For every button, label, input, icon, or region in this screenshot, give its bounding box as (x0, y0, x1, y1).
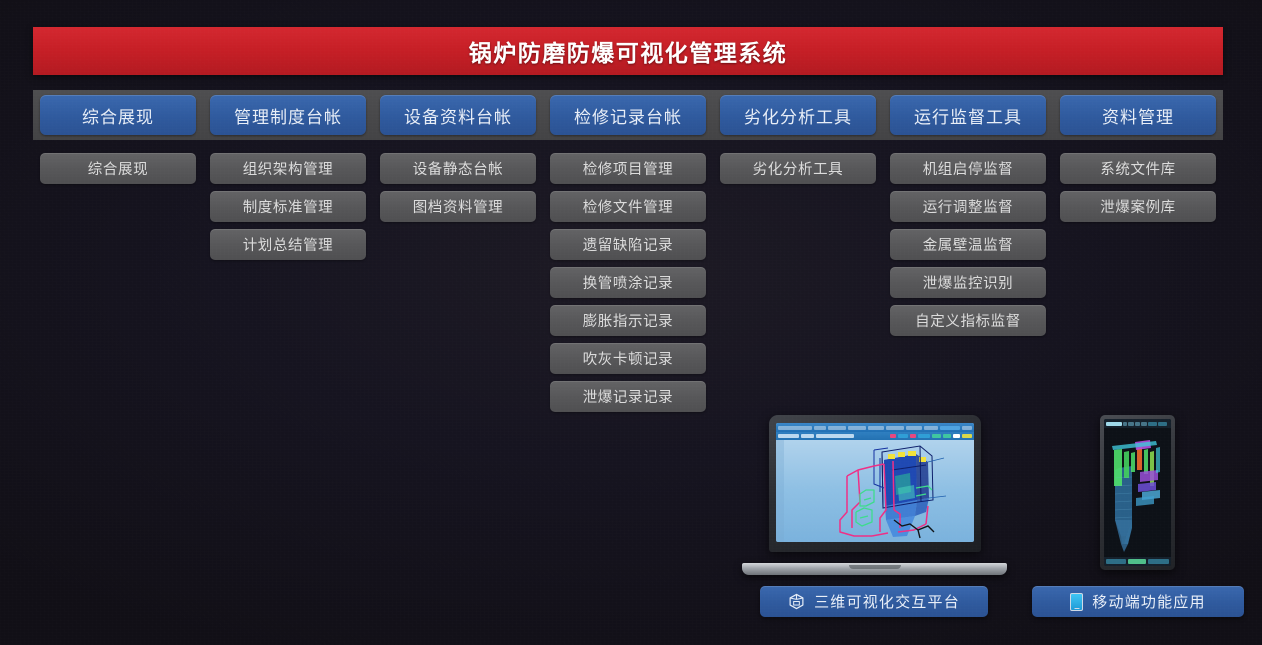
submenu-item-degradation-analysis-tool[interactable]: 劣化分析工具 (720, 153, 876, 184)
tab-management-system-ledger[interactable]: 管理制度台帐 (210, 95, 366, 135)
boiler-3d-model-mobile (1104, 428, 1171, 564)
submenu-item-legacy-defect-record[interactable]: 遗留缺陷记录 (550, 229, 706, 260)
submenu-column-maintenance-record-ledger: 检修项目管理 检修文件管理 遗留缺陷记录 换管喷涂记录 膨胀指示记录 吹灰卡顿记… (543, 153, 713, 412)
tablet-footer-dropdown (1106, 559, 1126, 564)
submenu-column-management-system-ledger: 组织架构管理 制度标准管理 计划总结管理 (203, 153, 373, 260)
tablet-toolbar-btn-2 (1158, 422, 1167, 426)
toolbar-dropdown-2 (801, 434, 814, 438)
titlebar-window-controls (962, 426, 972, 430)
titlebar-logo (778, 426, 812, 430)
mobile-application-button[interactable]: 移动端功能应用 (1032, 586, 1244, 617)
tab-cell-4: 劣化分析工具 (713, 95, 883, 135)
submenu-item-soot-blowing-jam-record[interactable]: 吹灰卡顿记录 (550, 343, 706, 374)
submenu-item-operation-adjustment-supervision[interactable]: 运行调整监督 (890, 191, 1046, 222)
tablet-toolbar-logo (1106, 422, 1122, 426)
tab-cell-2: 设备资料台帐 (373, 95, 543, 135)
tablet-toolbar-btn-1 (1148, 422, 1157, 426)
titlebar-menu-6 (906, 426, 922, 430)
toolbar-btn-5 (953, 434, 960, 438)
submenu-item-plan-summary-mgmt[interactable]: 计划总结管理 (210, 229, 366, 260)
titlebar-menu-5 (886, 426, 904, 430)
tablet-footer-btn-1 (1128, 559, 1147, 564)
submenu-column-comprehensive-display: 综合展现 (33, 153, 203, 184)
tablet-toolbar-icon-4 (1141, 422, 1147, 426)
tab-document-management[interactable]: 资料管理 (1060, 95, 1216, 135)
toolbar-swatch-pink-2 (910, 434, 916, 438)
submenu-item-tube-replacement-coating-record[interactable]: 换管喷涂记录 (550, 267, 706, 298)
titlebar-menu-2 (828, 426, 846, 430)
tablet-app-toolbar (1104, 419, 1171, 428)
tab-cell-5: 运行监督工具 (883, 95, 1053, 135)
application-window: 锅炉防磨防爆可视化管理系统 综合展现 管理制度台帐 设备资料台帐 检修记录台帐 … (0, 0, 1262, 645)
laptop-app-toolbar (776, 432, 974, 440)
submenu-column-document-management: 系统文件库 泄爆案例库 (1053, 153, 1223, 222)
submenu-grid: 综合展现 组织架构管理 制度标准管理 计划总结管理 设备静态台帐 图档资料管理 … (33, 153, 1223, 412)
3d-visualization-platform-button[interactable]: 三维可视化交互平台 (760, 586, 988, 617)
submenu-item-leak-burst-record[interactable]: 泄爆记录记录 (550, 381, 706, 412)
submenu-item-leak-burst-case-library[interactable]: 泄爆案例库 (1060, 191, 1216, 222)
submenu-item-maintenance-project-mgmt[interactable]: 检修项目管理 (550, 153, 706, 184)
submenu-item-org-structure-mgmt[interactable]: 组织架构管理 (210, 153, 366, 184)
mobile-phone-icon (1070, 593, 1083, 611)
tablet-bottom-bar (1104, 557, 1171, 566)
laptop-screen (776, 423, 974, 542)
tab-cell-6: 资料管理 (1053, 95, 1223, 135)
titlebar-menu-3 (848, 426, 866, 430)
submenu-item-equipment-static-ledger[interactable]: 设备静态台帐 (380, 153, 536, 184)
laptop-trackpad-notch (849, 565, 901, 569)
submenu-item-leak-burst-monitoring-recognition[interactable]: 泄爆监控识别 (890, 267, 1046, 298)
submenu-column-equipment-data-ledger: 设备静态台帐 图档资料管理 (373, 153, 543, 222)
tablet-toolbar-icon-1 (1123, 422, 1127, 426)
submenu-item-drawing-archive-mgmt[interactable]: 图档资料管理 (380, 191, 536, 222)
tab-degradation-analysis-tool[interactable]: 劣化分析工具 (720, 95, 876, 135)
tab-cell-1: 管理制度台帐 (203, 95, 373, 135)
tab-maintenance-record-ledger[interactable]: 检修记录台帐 (550, 95, 706, 135)
submenu-item-standards-mgmt[interactable]: 制度标准管理 (210, 191, 366, 222)
tab-operation-supervision-tool[interactable]: 运行监督工具 (890, 95, 1046, 135)
toolbar-btn-6 (962, 434, 972, 438)
boiler-3d-model-wireframe (776, 440, 974, 542)
tab-equipment-data-ledger[interactable]: 设备资料台帐 (380, 95, 536, 135)
toolbar-btn-3 (932, 434, 941, 438)
3d-platform-label: 三维可视化交互平台 (814, 591, 960, 612)
desktop-platform-mockup (742, 415, 1007, 575)
tablet-screen (1104, 419, 1171, 566)
tab-cell-0: 综合展现 (33, 95, 203, 135)
toolbar-btn-1 (898, 434, 909, 438)
titlebar-menu-7 (924, 426, 938, 430)
toolbar-swatch-pink (890, 434, 896, 438)
toolbar-field (816, 434, 854, 438)
app-header-banner: 锅炉防磨防爆可视化管理系统 (33, 27, 1223, 75)
toolbar-btn-2 (918, 434, 930, 438)
submenu-item-maintenance-file-mgmt[interactable]: 检修文件管理 (550, 191, 706, 222)
submenu-item-custom-indicator-supervision[interactable]: 自定义指标监督 (890, 305, 1046, 336)
cube-3d-icon (788, 593, 805, 610)
submenu-column-operation-supervision-tool: 机组启停监督 运行调整监督 金属壁温监督 泄爆监控识别 自定义指标监督 (883, 153, 1053, 336)
tablet-toolbar-icon-2 (1128, 422, 1134, 426)
toolbar-dropdown-1 (778, 434, 799, 438)
submenu-column-degradation-analysis-tool: 劣化分析工具 (713, 153, 883, 184)
page-title: 锅炉防磨防爆可视化管理系统 (469, 34, 788, 68)
titlebar-menu-4 (868, 426, 884, 430)
tablet-toolbar-icon-3 (1135, 422, 1140, 426)
tablet-footer-btn-2 (1148, 559, 1169, 564)
toolbar-btn-4 (943, 434, 950, 438)
submenu-item-system-file-library[interactable]: 系统文件库 (1060, 153, 1216, 184)
laptop-lid (769, 415, 981, 552)
primary-navigation-bar: 综合展现 管理制度台帐 设备资料台帐 检修记录台帐 劣化分析工具 运行监督工具 … (33, 90, 1223, 140)
submenu-item-expansion-indication-record[interactable]: 膨胀指示记录 (550, 305, 706, 336)
laptop-3d-viewport (776, 440, 974, 542)
titlebar-menu-1 (814, 426, 826, 430)
tab-comprehensive-display[interactable]: 综合展现 (40, 95, 196, 135)
submenu-item-metal-wall-temperature-supervision[interactable]: 金属壁温监督 (890, 229, 1046, 260)
submenu-item-comprehensive-display[interactable]: 综合展现 (40, 153, 196, 184)
mobile-platform-mockup (1100, 415, 1175, 570)
laptop-base (742, 563, 1007, 575)
mobile-app-label: 移动端功能应用 (1092, 591, 1205, 612)
titlebar-menu-active (940, 426, 960, 430)
tab-cell-3: 检修记录台帐 (543, 95, 713, 135)
submenu-item-unit-startup-shutdown-supervision[interactable]: 机组启停监督 (890, 153, 1046, 184)
laptop-app-titlebar (776, 423, 974, 432)
